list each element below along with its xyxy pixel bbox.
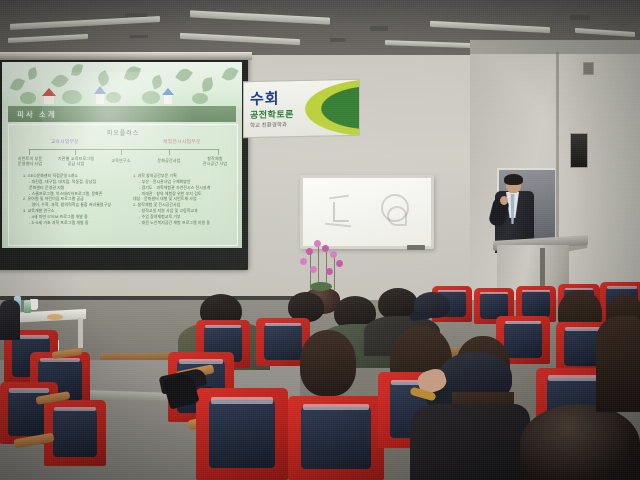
banner-swoosh-graphic xyxy=(287,79,360,138)
orchid-bloom xyxy=(322,245,329,252)
projection-screen: 피사 소개 피오플러스 교육사업부문 체험전시사업부문 서번트의 부문 운영센터… xyxy=(2,62,242,248)
orchid-bloom xyxy=(326,268,333,275)
ceiling-light xyxy=(10,16,160,30)
bullet: - 5~6세 기초 과학 프로그램 개발 중 xyxy=(23,220,121,226)
org-box: 문화공간사업 xyxy=(149,158,189,163)
house-illustration xyxy=(42,88,56,104)
slide-body: 피오플러스 교육사업부문 체험전시사업부문 서번트의 부문 운영센터 사업 기관… xyxy=(8,124,238,246)
audience-head-foreground xyxy=(520,404,640,480)
water-bottle xyxy=(24,300,31,313)
audience-shoulder-left xyxy=(0,300,20,340)
paper-cup xyxy=(30,299,38,310)
audience-jacket xyxy=(410,404,530,480)
ceiling-light xyxy=(190,10,330,24)
wall-fixture xyxy=(583,62,594,75)
orchid-bloom xyxy=(330,251,337,258)
banner-subtitle: 공전학토론 xyxy=(250,107,294,121)
ceiling-vent xyxy=(125,13,147,17)
ceiling-vent xyxy=(130,35,148,38)
orchid-bloom xyxy=(300,258,307,265)
audience-head xyxy=(300,330,356,396)
org-connector xyxy=(169,149,170,155)
house-illustration xyxy=(162,88,174,104)
ceiling-light xyxy=(430,21,550,33)
ceiling-vent xyxy=(570,15,590,20)
org-box: 교육연구소 xyxy=(103,158,139,163)
dept-label-left: 교육사업부문 xyxy=(35,139,95,145)
org-connector xyxy=(29,149,219,150)
seat xyxy=(44,400,106,466)
org-box: 창작체험 전시공간 사업 xyxy=(195,156,235,167)
house-illustration xyxy=(94,86,106,104)
orchid-bloom xyxy=(310,266,317,273)
org-connector xyxy=(218,149,219,155)
banner-title: 수회 xyxy=(250,87,280,109)
org-connector xyxy=(121,149,122,155)
ceiling-vent xyxy=(370,26,388,31)
slide-left-column: 1. GEO문화센터 직접운영 5개소 - 대전점, 대구점, 대치점, 목동점… xyxy=(23,173,121,226)
side-table-leg xyxy=(78,318,83,348)
bullet: - 대전 노인복지공간 체험 프로그램 지원 중 xyxy=(133,220,233,226)
ceiling-light xyxy=(575,28,635,37)
slide-title-bar: 피사 소개 xyxy=(8,106,236,122)
wall-speaker-box xyxy=(570,133,588,168)
wall-banner: 수회 공전학토론 학교 친환경학과 xyxy=(243,79,360,138)
presenter-hair xyxy=(504,174,523,185)
slide-right-column: 1. 과학 창의공간부문 기획 - 부산 · 전시관사업 구체화방안 - 경기도… xyxy=(133,173,233,226)
org-box: 기관별 교육프로그램 공급 사업 xyxy=(55,156,97,167)
snack-plate xyxy=(47,314,63,320)
wall-soffit xyxy=(470,40,640,54)
ceiling-light xyxy=(180,33,300,45)
ceiling-vent xyxy=(330,38,346,42)
slide-header-illustration xyxy=(2,62,242,109)
seat xyxy=(196,388,288,480)
orchid-bloom xyxy=(336,260,343,267)
marker-tray xyxy=(407,245,425,250)
audience-head xyxy=(596,316,640,412)
org-box: 서번트의 부문 운영센터 사업 xyxy=(11,156,49,167)
orchid-bloom xyxy=(306,248,313,255)
banner-footer: 학교 친환경학과 xyxy=(250,120,287,129)
org-connector xyxy=(29,149,30,155)
org-connector xyxy=(75,149,76,155)
seat xyxy=(288,396,384,480)
ceiling-light xyxy=(8,34,88,43)
orchid-leaves xyxy=(310,282,332,291)
auditorium-photo: 피사 소개 피오플러스 교육사업부문 체험전시사업부문 서번트의 부문 운영센터… xyxy=(0,0,640,480)
presenter-hand-with-microphone xyxy=(500,196,508,205)
audience-cap xyxy=(414,292,450,318)
dept-label-right: 체험전시사업부문 xyxy=(149,139,215,145)
slide-title: 피사 소개 xyxy=(8,109,57,120)
orchid-bloom xyxy=(314,240,321,247)
projection-screen-rail xyxy=(0,52,252,60)
slide-subtitle: 피오플러스 xyxy=(9,128,237,137)
